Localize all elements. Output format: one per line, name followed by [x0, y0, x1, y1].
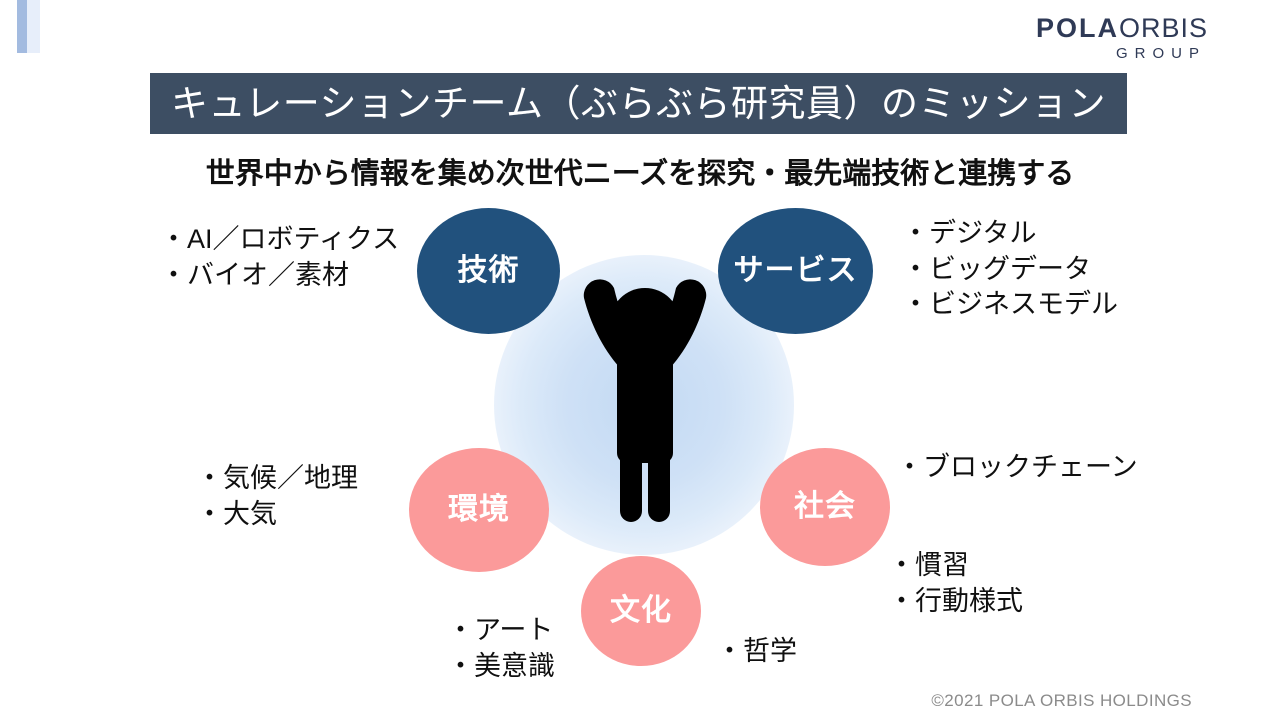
note-environment-line-2: ・大気 [196, 497, 358, 533]
bubble-culture-label: 文化 [610, 596, 672, 626]
note-society-customs: ・慣習 ・行動様式 [888, 548, 1023, 619]
bubble-environment-label: 環境 [448, 495, 510, 525]
bubble-technology[interactable]: 技術 [417, 208, 560, 334]
note-culture-line-1: ・アート [447, 613, 555, 649]
note-service-line-3: ・ビジネスモデル [902, 287, 1118, 323]
bubble-culture[interactable]: 文化 [581, 556, 701, 666]
logo-pola-text: POLA [1036, 13, 1119, 43]
slide-title-band: キュレーションチーム（ぶらぶら研究員）のミッション [150, 73, 1127, 134]
note-society-line-3: ・行動様式 [888, 584, 1023, 620]
decorative-bar-left-dark [17, 0, 27, 53]
note-environment-line-1: ・気候／地理 [196, 461, 358, 497]
note-service: ・デジタル ・ビッグデータ ・ビジネスモデル [902, 216, 1118, 323]
logo-orbis-text: ORBIS [1119, 13, 1208, 43]
bubble-society-label: 社会 [794, 492, 856, 522]
bubble-service-label: サービス [734, 256, 858, 286]
note-society-line-2: ・慣習 [888, 548, 1023, 584]
copyright-footer: ©2021 POLA ORBIS HOLDINGS [931, 691, 1192, 711]
note-culture-philosophy: ・哲学 [716, 634, 797, 670]
note-culture-art: ・アート ・美意識 [447, 613, 555, 684]
note-environment: ・気候／地理 ・大気 [196, 461, 358, 532]
slide-title: キュレーションチーム（ぶらぶら研究員）のミッション [171, 85, 1106, 122]
note-technology: ・AI／ロボティクス ・バイオ／素材 [160, 222, 399, 293]
note-service-line-1: ・デジタル [902, 216, 1118, 252]
bubble-technology-label: 技術 [458, 256, 520, 286]
bubble-society[interactable]: 社会 [760, 448, 890, 566]
note-society-blockchain: ・ブロックチェーン [896, 450, 1138, 486]
note-service-line-2: ・ビッグデータ [902, 252, 1118, 288]
note-culture-line-2: ・美意識 [447, 649, 555, 685]
note-technology-line-1: ・AI／ロボティクス [160, 222, 399, 258]
pola-orbis-group-logo: POLAORBIS GROUP [1036, 14, 1208, 62]
logo-group-text: GROUP [1036, 45, 1208, 62]
decorative-bar-left-light [27, 0, 40, 53]
slide-canvas: POLAORBIS GROUP キュレーションチーム（ぶらぶら研究員）のミッショ… [0, 0, 1280, 720]
bubble-environment[interactable]: 環境 [409, 448, 549, 572]
note-culture-line-3: ・哲学 [716, 634, 797, 670]
note-technology-line-2: ・バイオ／素材 [160, 258, 399, 294]
note-society-line-1: ・ブロックチェーン [896, 450, 1138, 486]
person-arms-raised-icon [560, 276, 730, 526]
slide-subtitle: 世界中から情報を集め次世代ニーズを探究・最先端技術と連携する [0, 150, 1280, 192]
logo-wordmark: POLAORBIS [1036, 14, 1208, 42]
bubble-service[interactable]: サービス [718, 208, 873, 334]
